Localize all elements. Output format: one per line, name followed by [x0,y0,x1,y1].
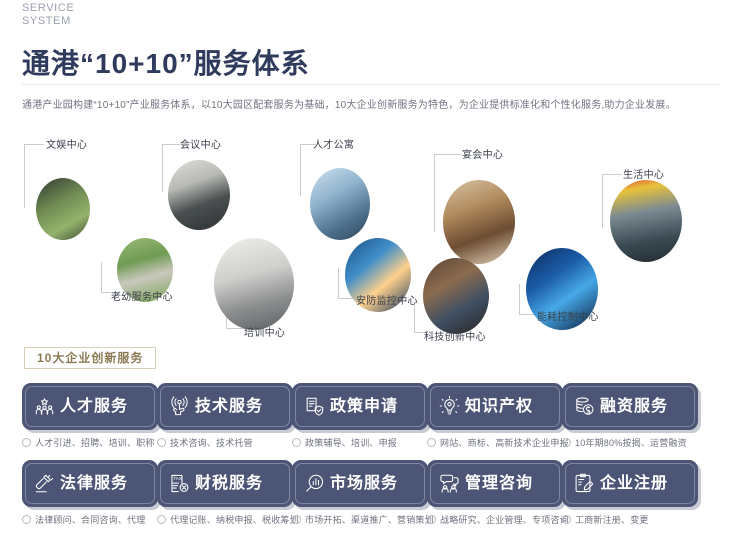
bullet-ring-icon [22,515,31,524]
service-card-bullet: 政策辅导、培训、申报 [292,436,397,449]
leader-vertical [24,144,25,208]
service-card-policy[interactable]: 政策申请 [292,383,428,430]
ip-icon [438,396,460,418]
service-card-legal[interactable]: 法律服务 [22,460,158,507]
service-card-label: 财税服务 [195,476,263,492]
facility-label: 培训中心 [244,324,285,339]
leader-vertical [162,144,163,192]
talent-icon [33,396,55,418]
leader-horizontal [602,174,622,175]
legal-icon [33,473,55,495]
bullet-text: 10年期80%按揭、运营融资 [575,436,687,449]
tech-photo [423,258,489,334]
bullet-text: 战略研究、企业管理、专项咨询 [440,513,569,526]
bullet-text: 法律顾问、合同咨询、代理 [35,513,145,526]
card-inner-frame: 知识产权 [430,386,560,427]
service-card-finance[interactable]: 融资服务 [562,383,698,430]
facility-label: 文娱中心 [46,136,87,151]
service-card-label: 融资服务 [600,399,668,415]
bullet-text: 政策辅导、培训、申报 [305,436,397,449]
service-card-label: 法律服务 [60,476,128,492]
consulting-icon [438,473,460,495]
apartment-photo [310,168,370,240]
bullet-ring-icon [562,438,571,447]
eyebrow-label: SERVICE SYSTEM [22,2,74,28]
market-icon [303,473,325,495]
service-card-bullet: 法律顾问、合同咨询、代理 [22,513,145,526]
conference-photo [168,160,230,230]
service-card-label: 政策申请 [330,399,398,415]
gym-photo [36,178,90,240]
service-system-page: SERVICE SYSTEM 通港“10+10”服务体系 通港产业园构建“10+… [0,0,740,538]
service-card-label: 知识产权 [465,399,533,415]
card-inner-frame: 法律服务 [25,463,155,504]
facility-circle-1[interactable] [36,178,90,240]
facility-photo-cluster: 文娱中心会议中心老幼服务中心人才公寓培训中心安防监控中心宴会中心科技创新中心能耗… [0,128,740,340]
service-card-bullet: 战略研究、企业管理、专项咨询 [427,513,569,526]
tax-icon: TAX [168,473,190,495]
service-card-talent[interactable]: 人才服务 [22,383,158,430]
card-inner-frame: TAX财税服务 [160,463,290,504]
facility-circle-2[interactable] [168,160,230,230]
service-card-label: 市场服务 [330,476,398,492]
service-card-consulting[interactable]: 管理咨询 [427,460,563,507]
leader-vertical [101,262,102,292]
bullet-ring-icon [292,515,301,524]
intro-paragraph: 通港产业园构建“10+10”产业服务体系，以10大园区配套服务为基础，10大企业… [22,98,722,114]
leader-horizontal [162,144,180,145]
training-photo [214,238,294,330]
bullet-text: 工商新注册、变更 [575,513,649,526]
service-card-bullet: 工商新注册、变更 [562,513,649,526]
bullet-ring-icon [157,515,166,524]
leader-vertical [602,174,603,228]
facility-circle-4[interactable] [310,168,370,240]
leader-vertical [414,304,415,332]
card-inner-frame: 人才服务 [25,386,155,427]
facility-circle-8[interactable] [423,258,489,334]
bullet-text: 市场开拓、渠道推广、营销策划 [305,513,434,526]
service-card-register[interactable]: 企业注册 [562,460,698,507]
service-card-tax[interactable]: TAX财税服务 [157,460,293,507]
leader-horizontal [434,154,462,155]
card-inner-frame: 市场服务 [295,463,425,504]
service-card-market[interactable]: 市场服务 [292,460,428,507]
card-inner-frame: 政策申请 [295,386,425,427]
service-card-label: 人才服务 [60,399,128,415]
facility-circle-7[interactable] [443,180,515,264]
facility-label: 老幼服务中心 [111,288,173,303]
service-card-label: 企业注册 [600,476,668,492]
lifestyle-photo [610,180,682,262]
bullet-ring-icon [157,438,166,447]
service-card-bullet: 网站、商标、高新技术企业申报 [427,436,569,449]
facility-label: 人才公寓 [313,136,354,151]
leader-vertical [434,154,435,232]
service-card-technology[interactable]: 技术服务 [157,383,293,430]
bullet-ring-icon [427,438,436,447]
service-card-ip[interactable]: 知识产权 [427,383,563,430]
technology-icon [168,396,190,418]
service-card-bullet: 技术咨询、技术托管 [157,436,253,449]
facility-label: 生活中心 [623,166,664,181]
facility-circle-5[interactable] [214,238,294,330]
finance-icon [573,396,595,418]
card-inner-frame: 管理咨询 [430,463,560,504]
bullet-text: 网站、商标、高新技术企业申报 [440,436,569,449]
facility-label: 宴会中心 [462,146,503,161]
service-card-bullet: 10年期80%按揭、运营融资 [562,436,687,449]
facility-label: 安防监控中心 [356,292,418,307]
bullet-text: 代理记账、纳税申报、税收筹划 [170,513,299,526]
header-divider [22,84,720,85]
policy-icon [303,396,325,418]
card-inner-frame: 企业注册 [565,463,695,504]
service-card-bullet: 市场开拓、渠道推广、营销策划 [292,513,434,526]
facility-label: 科技创新中心 [424,328,486,343]
register-icon [573,473,595,495]
leader-horizontal [24,144,44,145]
card-inner-frame: 技术服务 [160,386,290,427]
svg-text:TAX: TAX [173,476,181,481]
page-title: 通港“10+10”服务体系 [22,47,310,81]
facility-circle-10[interactable] [610,180,682,262]
innovation-section-tag: 10大企业创新服务 [24,347,156,369]
bullet-ring-icon [22,438,31,447]
service-card-label: 管理咨询 [465,476,533,492]
card-inner-frame: 融资服务 [565,386,695,427]
bullet-ring-icon [292,438,301,447]
bullet-ring-icon [562,515,571,524]
service-card-bullet: 代理记账、纳税申报、税收筹划 [157,513,299,526]
service-card-bullet: 人才引进、招聘、培训、职称 [22,436,155,449]
bullet-text: 技术咨询、技术托管 [170,436,253,449]
banquet-photo [443,180,515,264]
leader-vertical [300,144,301,196]
leader-vertical [519,284,520,314]
service-card-label: 技术服务 [195,399,263,415]
leader-vertical [338,268,339,298]
bullet-ring-icon [427,515,436,524]
facility-label: 会议中心 [180,136,221,151]
facility-label: 能耗控制中心 [537,308,599,323]
bullet-text: 人才引进、招聘、培训、职称 [35,436,155,449]
